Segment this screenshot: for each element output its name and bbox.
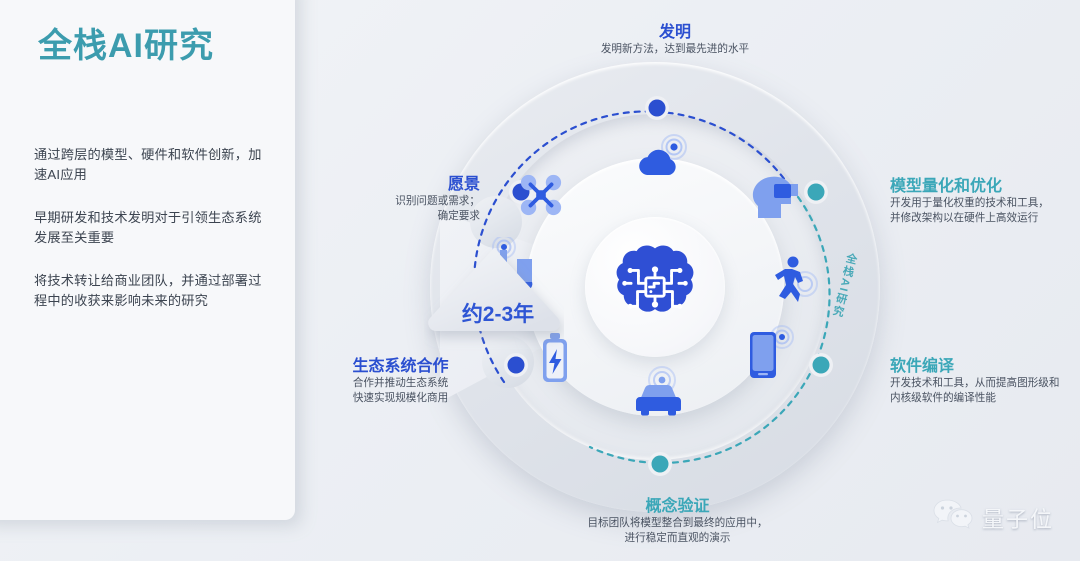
dot-invention bbox=[645, 96, 669, 120]
node-label-model-quant: 模型量化和优化 开发用于量化权重的技术和工具， 并修改架构以在硬件上高效运行 bbox=[890, 172, 1080, 227]
left-info-card: 全栈AI研究 通过跨层的模型、硬件和软件创新，加速AI应用 早期研发和技术发明对… bbox=[0, 0, 295, 520]
node-heading-software-compile: 软件编译 bbox=[890, 352, 1080, 376]
node-label-poc: 概念验证 目标团队将模型整合到最终的应用中， 进行稳定而直观的演示 bbox=[555, 492, 800, 547]
node-heading-ecosystem: 生态系统合作 bbox=[318, 352, 483, 376]
watermark-text: 量子位 bbox=[982, 502, 1054, 534]
left-paragraph-2: 早期研发和技术发明对于引领生态系统发展至关重要 bbox=[34, 208, 264, 249]
wechat-icon bbox=[933, 499, 973, 537]
node-heading-invention: 发明 bbox=[560, 18, 790, 42]
left-paragraph-1: 通过跨层的模型、硬件和软件创新，加速AI应用 bbox=[34, 145, 264, 186]
node-heading-poc: 概念验证 bbox=[555, 492, 800, 516]
node-label-ecosystem: 生态系统合作 合作并推动生态系统 快速实现规模化商用 bbox=[318, 352, 483, 407]
node-subtext-poc: 目标团队将模型整合到最终的应用中， 进行稳定而直观的演示 bbox=[555, 516, 800, 547]
left-paragraph-3: 将技术转让给商业团队，并通过部署过程中的收获来影响未来的研究 bbox=[34, 271, 264, 312]
node-label-vision: 愿景 识别问题或需求； 确定要求 bbox=[330, 170, 480, 225]
node-label-software-compile: 软件编译 开发技术和工具，从而提高图形级和 内核级软件的编译性能 bbox=[890, 352, 1080, 407]
left-body-text: 通过跨层的模型、硬件和软件创新，加速AI应用 早期研发和技术发明对于引领生态系统… bbox=[34, 145, 264, 334]
node-subtext-ecosystem: 合作并推动生态系统 快速实现规模化商用 bbox=[318, 376, 483, 407]
node-heading-model-quant: 模型量化和优化 bbox=[890, 172, 1080, 196]
node-subtext-model-quant: 开发用于量化权重的技术和工具， 并修改架构以在硬件上高效运行 bbox=[890, 196, 1080, 227]
slide-root: 全栈AI研究 通过跨层的模型、硬件和软件创新，加速AI应用 早期研发和技术发明对… bbox=[0, 0, 1080, 561]
page-title: 全栈AI研究 bbox=[38, 18, 214, 67]
smartphone-signal-icon bbox=[742, 324, 798, 380]
drone-icon bbox=[518, 172, 564, 218]
node-subtext-vision: 识别问题或需求； 确定要求 bbox=[330, 194, 480, 225]
cloud-signal-icon bbox=[633, 134, 691, 184]
dot-model-quant bbox=[804, 180, 828, 204]
dot-poc bbox=[648, 452, 672, 476]
node-subtext-software-compile: 开发技术和工具，从而提高图形级和 内核级软件的编译性能 bbox=[890, 376, 1080, 407]
brain-circuit-icon bbox=[585, 217, 725, 357]
node-heading-vision: 愿景 bbox=[330, 170, 480, 194]
arrow-duration-label: 约2-3年 bbox=[448, 298, 548, 328]
dot-software-compile bbox=[809, 353, 833, 377]
connected-car-icon bbox=[628, 362, 690, 420]
node-subtext-invention: 发明新方法，达到最先进的水平 bbox=[560, 42, 790, 57]
head-profile-chip-icon bbox=[748, 170, 802, 222]
watermark: 量子位 bbox=[933, 499, 1054, 537]
node-label-invention: 发明 发明新方法，达到最先进的水平 bbox=[560, 18, 790, 57]
walking-person-icon bbox=[772, 254, 818, 306]
